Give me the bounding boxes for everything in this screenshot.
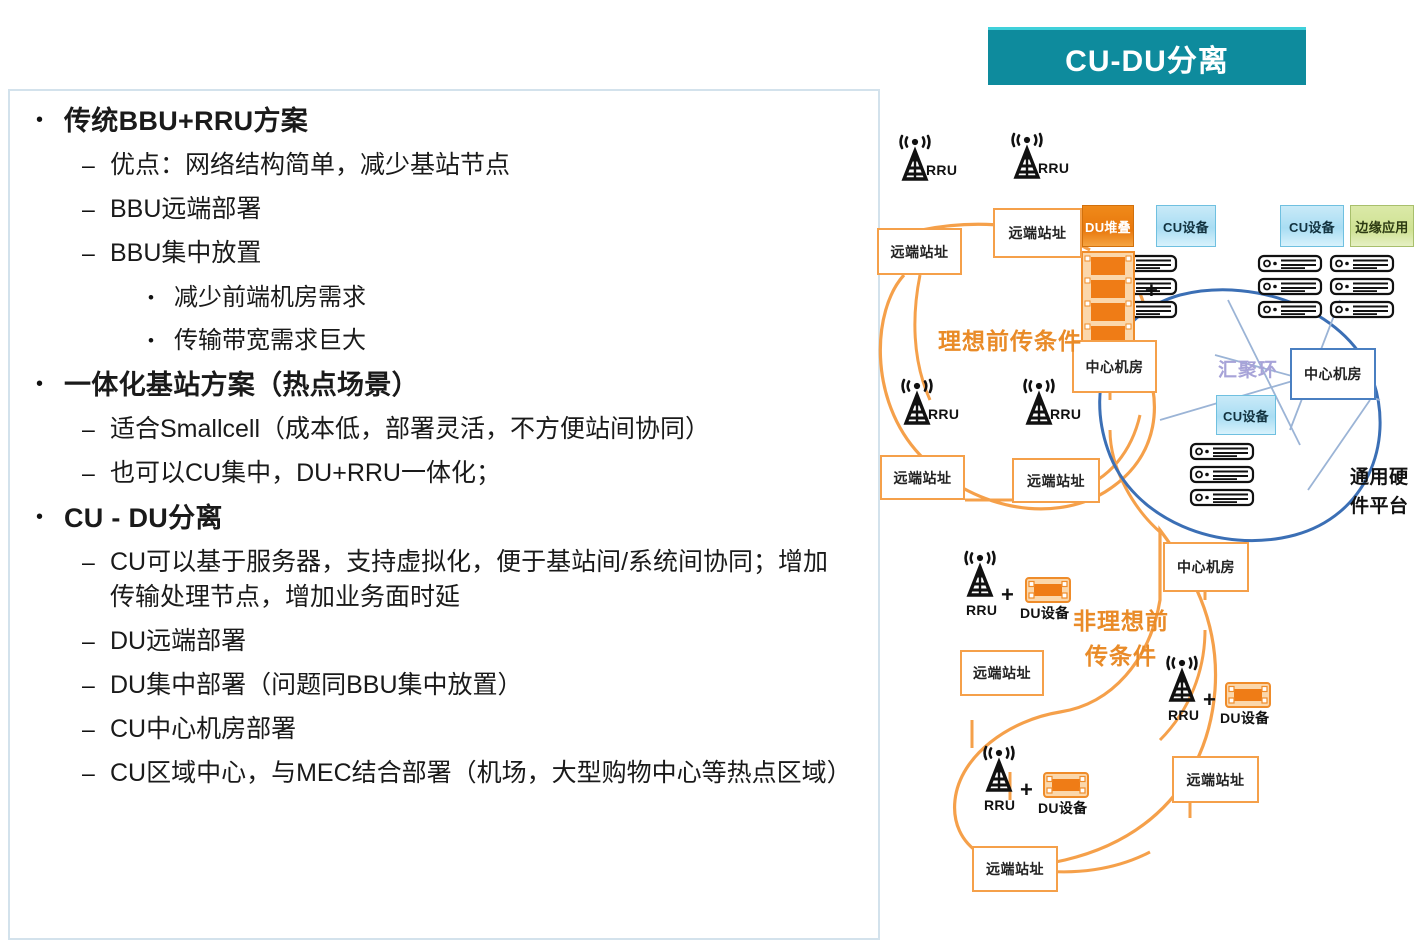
bullet-marker: • xyxy=(22,367,64,401)
outline-item: – CU中心机房部署 xyxy=(22,712,864,747)
outline-item: – DU集中部署（问题同BBU集中放置） xyxy=(22,668,864,703)
outline-item: – CU可以基于服务器，支持虚拟化，便于基站间/系统间协同；增加传输处理节点，增… xyxy=(22,545,864,615)
rru-label: RRU xyxy=(928,406,959,422)
bullet-marker: • xyxy=(22,324,174,357)
bullet-marker: – xyxy=(22,412,110,446)
rru-label: RRU xyxy=(1050,406,1081,422)
rru-label: RRU xyxy=(1168,707,1199,723)
bullet-marker: – xyxy=(22,192,110,226)
outline-text: CU区域中心，与MEC结合部署（机场，大型购物中心等热点区域） xyxy=(110,756,850,791)
bullet-marker: – xyxy=(22,668,110,702)
outline-text: 减少前端机房需求 xyxy=(174,281,366,314)
du-device-label: DU设备 xyxy=(1038,798,1087,818)
plus-icon: + xyxy=(1020,779,1033,801)
outline-item: – DU远端部署 xyxy=(22,624,864,659)
ideal-zone-caption: 理想前传条件 xyxy=(920,328,1100,355)
cu-device-chip[interactable]: CU设备 xyxy=(1156,205,1216,247)
outline-text: 也可以CU集中，DU+RRU一体化； xyxy=(110,456,501,491)
rru-label: RRU xyxy=(966,602,997,618)
outline-text: 优点：网络结构简单，减少基站节点 xyxy=(110,148,510,183)
outline-text: DU集中部署（问题同BBU集中放置） xyxy=(110,668,523,703)
outline-item: – CU区域中心，与MEC结合部署（机场，大型购物中心等热点区域） xyxy=(22,756,864,791)
outline-item: • 传统BBU+RRU方案 xyxy=(22,103,864,139)
outline-text: 一体化基站方案（热点场景） xyxy=(64,367,419,403)
outline-item: • 一体化基站方案（热点场景） xyxy=(22,367,864,403)
outline-item: – 优点：网络结构简单，减少基站节点 xyxy=(22,148,864,183)
rru-label: RRU xyxy=(1038,160,1069,176)
aggregation-ring-caption: 汇聚环 xyxy=(1218,355,1278,382)
central-room-box[interactable]: 中心机房 xyxy=(1290,348,1376,400)
bullet-marker: – xyxy=(22,712,110,746)
outline-item: – 也可以CU集中，DU+RRU一体化； xyxy=(22,456,864,491)
du-device-icon xyxy=(1026,578,1070,602)
non-ideal-zone-caption-line2: 传条件 xyxy=(1057,643,1185,670)
outline-text: 传输带宽需求巨大 xyxy=(174,324,366,357)
outline-text: BBU远端部署 xyxy=(110,192,261,227)
bullet-marker: – xyxy=(22,456,110,490)
bullet-marker: – xyxy=(22,624,110,658)
du-device-label: DU设备 xyxy=(1020,603,1069,623)
slide-title-banner: CU-DU分离 xyxy=(988,27,1306,85)
rru-tower-icon xyxy=(985,747,1014,790)
du-device-label: DU设备 xyxy=(1220,708,1269,728)
outline-text: CU - DU分离 xyxy=(64,500,223,536)
outline-text: BBU集中放置 xyxy=(110,236,261,271)
outline-item: – 适合Smallcell（成本低，部署灵活，不方便站间协同） xyxy=(22,412,864,447)
hardware-platform-caption-line2: 件平台 xyxy=(1350,496,1409,519)
outline-text: DU远端部署 xyxy=(110,624,246,659)
remote-site-box[interactable]: 远端站址 xyxy=(1012,458,1100,503)
bullet-marker: • xyxy=(22,281,174,314)
bullet-marker: • xyxy=(22,103,64,137)
non-ideal-zone-caption-line1: 非理想前 xyxy=(1057,608,1185,635)
du-device-icon xyxy=(1044,773,1088,797)
remote-site-box[interactable]: 远端站址 xyxy=(880,455,965,500)
bullet-marker: – xyxy=(22,236,110,270)
edge-app-chip[interactable]: 边缘应用 xyxy=(1350,205,1414,247)
hardware-platform-caption-line1: 通用硬 xyxy=(1350,467,1409,490)
plus-icon: + xyxy=(1145,280,1158,302)
rru-tower-icon xyxy=(966,552,995,595)
remote-site-box[interactable]: 远端站址 xyxy=(877,228,962,275)
outline-panel: • 传统BBU+RRU方案 – 优点：网络结构简单，减少基站节点 – BBU远端… xyxy=(8,89,880,940)
plus-icon: + xyxy=(1001,584,1014,606)
outline-item: – BBU集中放置 xyxy=(22,236,864,271)
cu-device-chip[interactable]: CU设备 xyxy=(1216,395,1276,435)
outline-text: CU中心机房部署 xyxy=(110,712,296,747)
outline-item: • CU - DU分离 xyxy=(22,500,864,536)
outline-item: • 传输带宽需求巨大 xyxy=(22,324,864,357)
central-room-box[interactable]: 中心机房 xyxy=(1163,542,1249,592)
page-title: CU-DU分离 xyxy=(1065,36,1229,80)
rru-label: RRU xyxy=(984,797,1015,813)
cu-device-chip[interactable]: CU设备 xyxy=(1280,205,1344,247)
outline-text: 传统BBU+RRU方案 xyxy=(64,103,308,139)
remote-site-box[interactable]: 远端站址 xyxy=(960,650,1044,696)
remote-site-box[interactable]: 远端站址 xyxy=(972,846,1058,892)
bullet-marker: – xyxy=(22,756,110,790)
remote-site-box[interactable]: 远端站址 xyxy=(993,208,1082,258)
outline-text: CU可以基于服务器，支持虚拟化，便于基站间/系统间协同；增加传输处理节点，增加业… xyxy=(110,545,850,615)
du-device-icon xyxy=(1226,683,1270,707)
outline-item: • 减少前端机房需求 xyxy=(22,281,864,314)
du-stack-chip[interactable]: DU堆叠 xyxy=(1082,205,1134,247)
bullet-marker: – xyxy=(22,545,110,579)
outline-item: – BBU远端部署 xyxy=(22,192,864,227)
rru-label: RRU xyxy=(926,162,957,178)
remote-site-box[interactable]: 远端站址 xyxy=(1172,756,1259,803)
cu-du-architecture-diagram: DU堆叠 CU设备 CU设备 边缘应用 CU设备 远端站址 远端站址 远端站址 … xyxy=(860,100,1425,950)
bullet-marker: • xyxy=(22,500,64,534)
outline-text: 适合Smallcell（成本低，部署灵活，不方便站间协同） xyxy=(110,412,710,447)
plus-icon: + xyxy=(1203,689,1216,711)
bullet-marker: – xyxy=(22,148,110,182)
